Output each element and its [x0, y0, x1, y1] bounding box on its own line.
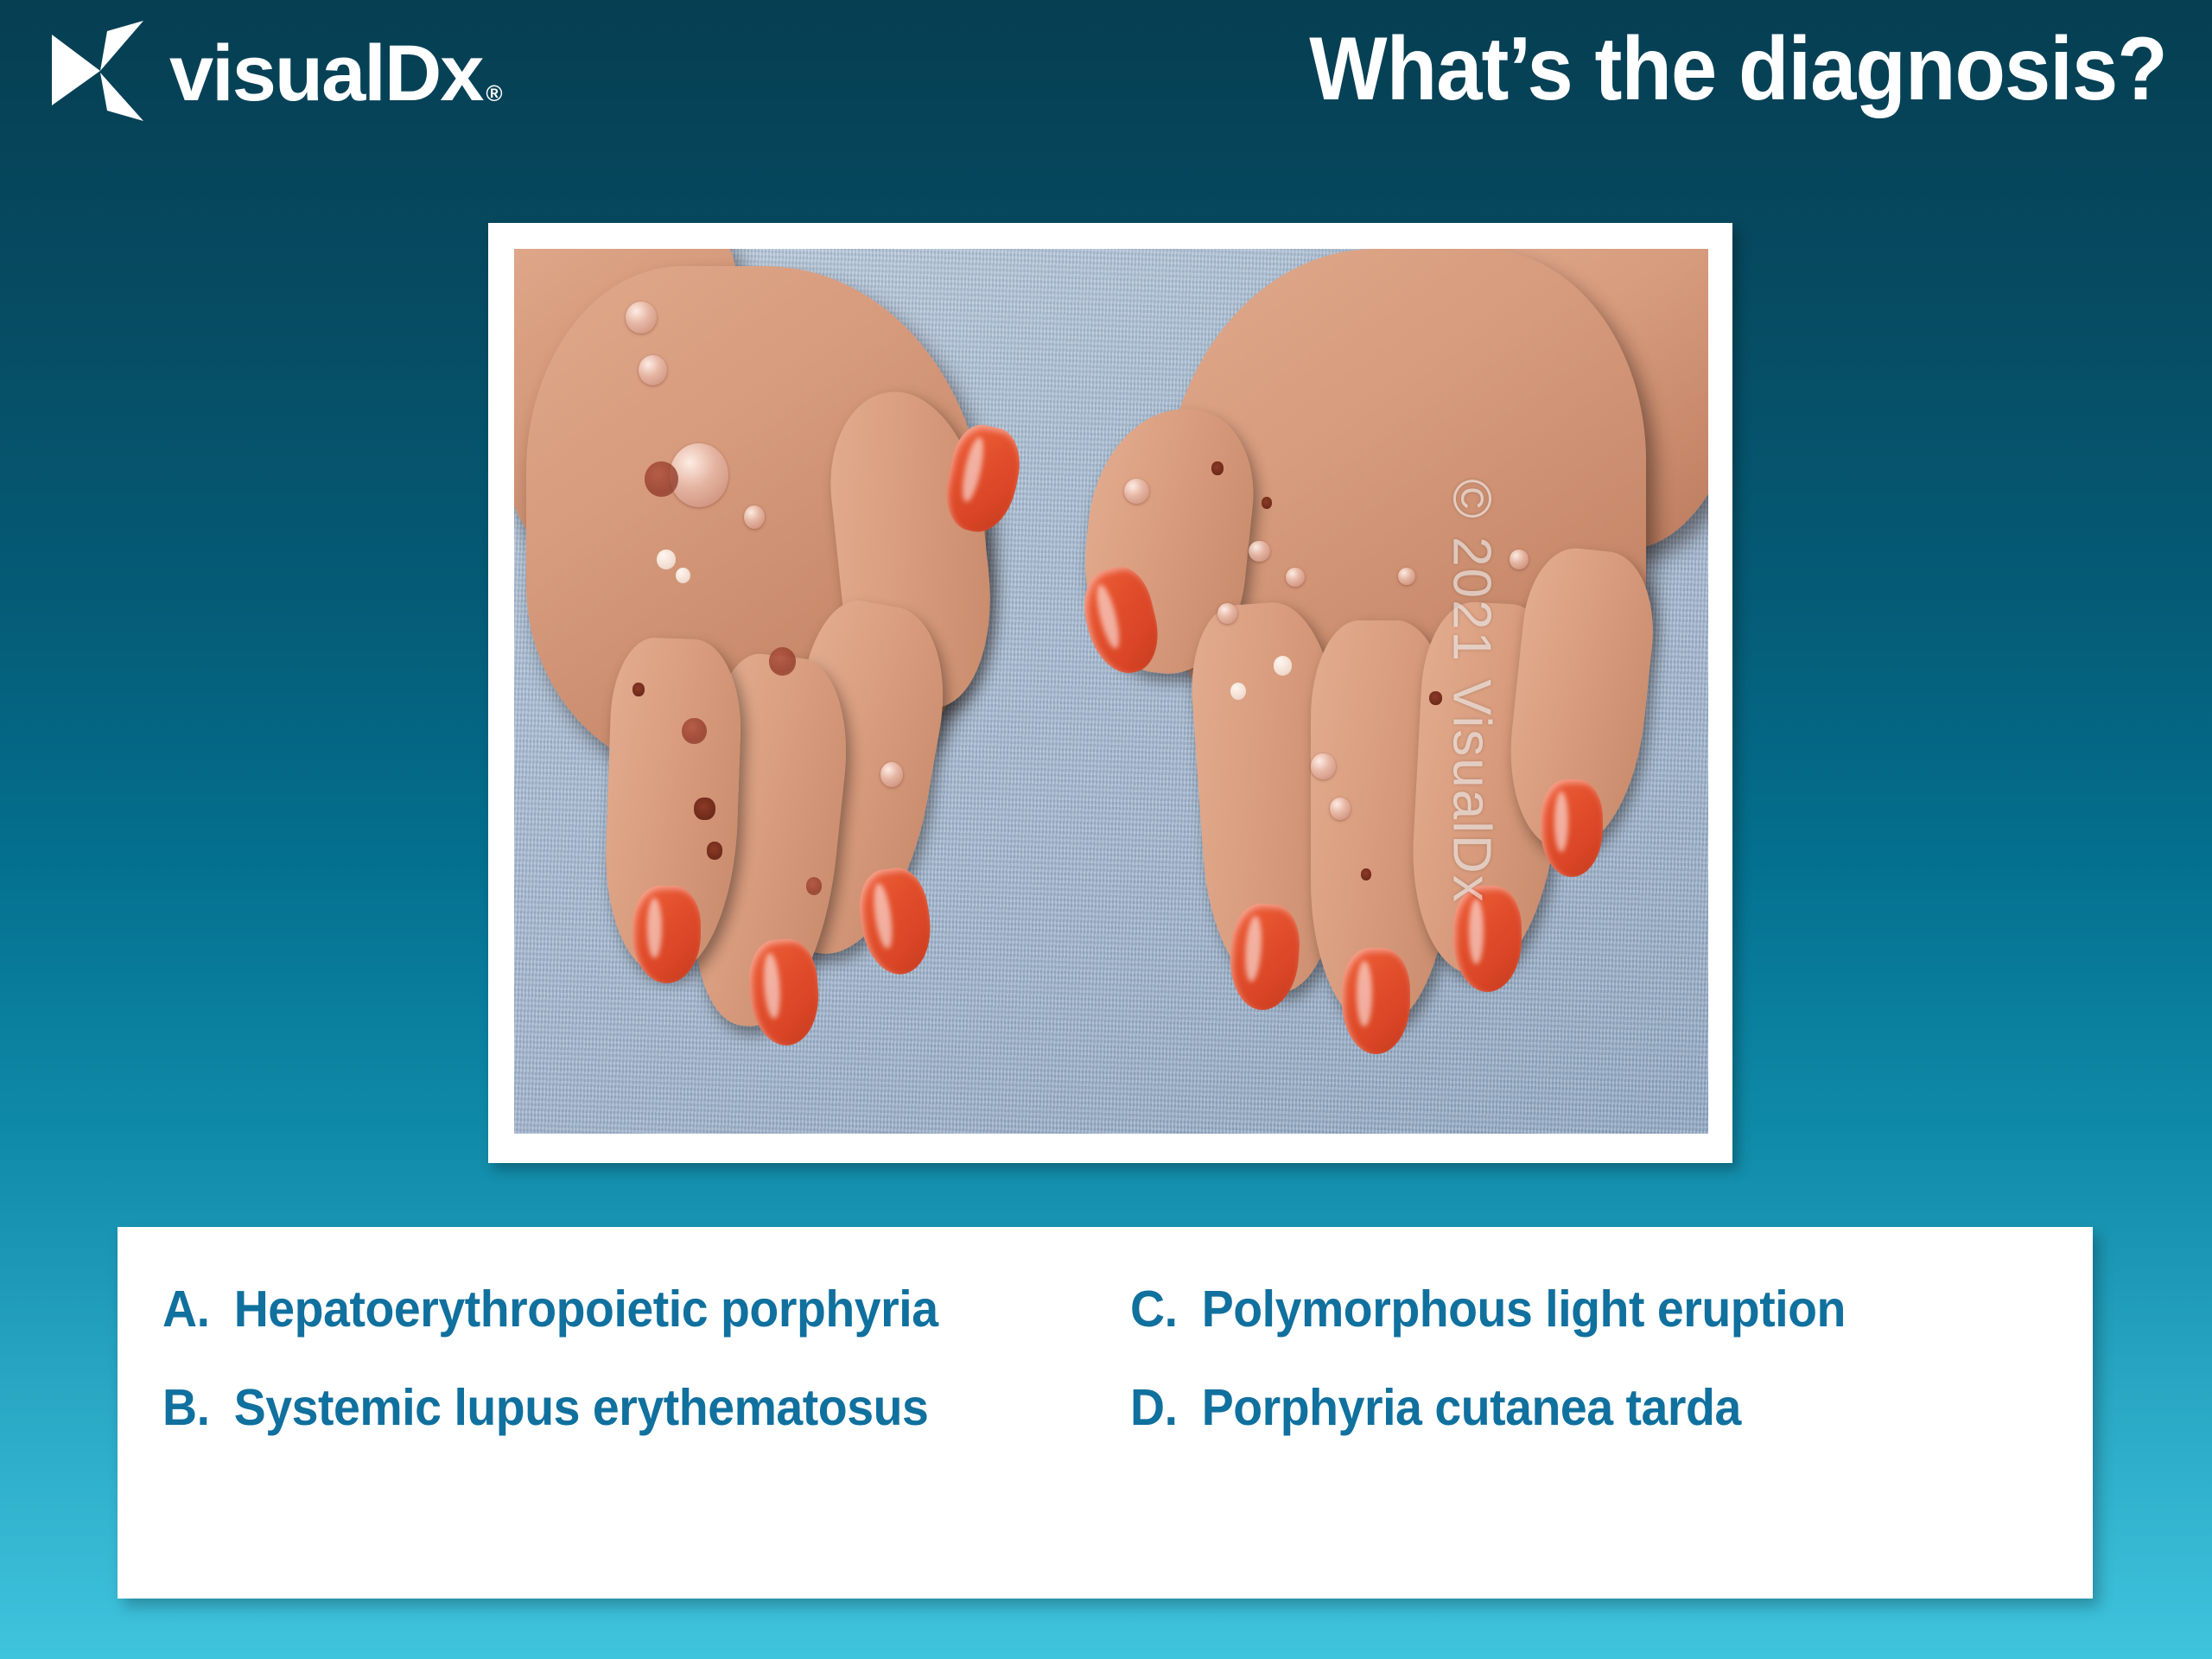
- lesion-vesicle: [1124, 479, 1149, 504]
- visualdx-logo[interactable]: visualDx ®: [50, 19, 501, 127]
- answer-option-c[interactable]: C. Polymorphous light eruption: [1130, 1281, 1999, 1338]
- answer-letter-d: D.: [1130, 1379, 1202, 1436]
- answer-text-c: Polymorphous light eruption: [1202, 1281, 1999, 1338]
- wordmark-lockup: visualDx ®: [169, 34, 501, 113]
- lesion-crust: [707, 842, 723, 859]
- lesion-vesicle: [1510, 550, 1529, 569]
- wordmark-text: visualDx: [169, 34, 482, 113]
- right-little-nail: [1541, 779, 1603, 877]
- left-hand: [514, 249, 1135, 1134]
- lesion-erosion: [682, 718, 707, 745]
- answer-option-a[interactable]: A. Hepatoerythropoietic porphyria: [162, 1281, 1032, 1338]
- answer-option-b[interactable]: B. Systemic lupus erythematosus: [162, 1379, 1032, 1436]
- lesion-vesicle: [1286, 568, 1305, 588]
- right-index-nail: [1226, 901, 1301, 1012]
- lesion-crust: [632, 683, 645, 696]
- lesion-milium: [676, 568, 690, 583]
- slide-header: visualDx ® What’s the diagnosis?: [0, 0, 2212, 156]
- lesion-crust: [694, 798, 715, 821]
- answer-options-panel: A. Hepatoerythropoietic porphyria C. Pol…: [118, 1227, 2093, 1599]
- clinical-image-frame: © 2021 VisualDx: [488, 223, 1732, 1163]
- quiz-slide: visualDx ® What’s the diagnosis?: [0, 0, 2212, 1659]
- lesion-bulla: [670, 443, 728, 507]
- lesion-erosion: [806, 877, 823, 894]
- clinical-image: © 2021 VisualDx: [514, 249, 1708, 1134]
- visualdx-bowtie-logo-icon: [50, 19, 145, 127]
- answer-text-a: Hepatoerythropoietic porphyria: [234, 1281, 1032, 1338]
- left-little-nail: [632, 886, 701, 983]
- lesion-milium: [1274, 656, 1293, 676]
- lesion-vesicle: [1249, 541, 1269, 563]
- lesion-erosion: [645, 461, 679, 497]
- answer-letter-a: A.: [162, 1281, 234, 1338]
- answer-options-grid: A. Hepatoerythropoietic porphyria C. Pol…: [162, 1281, 2055, 1564]
- answer-letter-b: B.: [162, 1379, 234, 1436]
- lesion-vesicle: [1311, 753, 1336, 780]
- answer-text-b: Systemic lupus erythematosus: [234, 1379, 1032, 1436]
- answer-letter-c: C.: [1130, 1281, 1202, 1338]
- lesion-milium: [657, 550, 676, 569]
- lesion-vesicle: [744, 505, 765, 529]
- lesion-vesicle: [880, 762, 903, 787]
- answer-text-d: Porphyria cutanea tarda: [1202, 1379, 1999, 1436]
- answer-option-d[interactable]: D. Porphyria cutanea tarda: [1130, 1379, 1999, 1436]
- copyright-watermark: © 2021 VisualDx: [1441, 479, 1503, 904]
- right-hand: [1087, 249, 1708, 1134]
- registered-trademark-icon: ®: [486, 82, 500, 105]
- lesion-vesicle: [1398, 568, 1415, 585]
- left-middle-nail: [855, 864, 937, 979]
- lesion-erosion: [769, 647, 797, 676]
- right-middle-nail: [1342, 948, 1410, 1054]
- page-title: What’s the diagnosis?: [1310, 22, 2167, 117]
- lesion-vesicle: [639, 355, 667, 385]
